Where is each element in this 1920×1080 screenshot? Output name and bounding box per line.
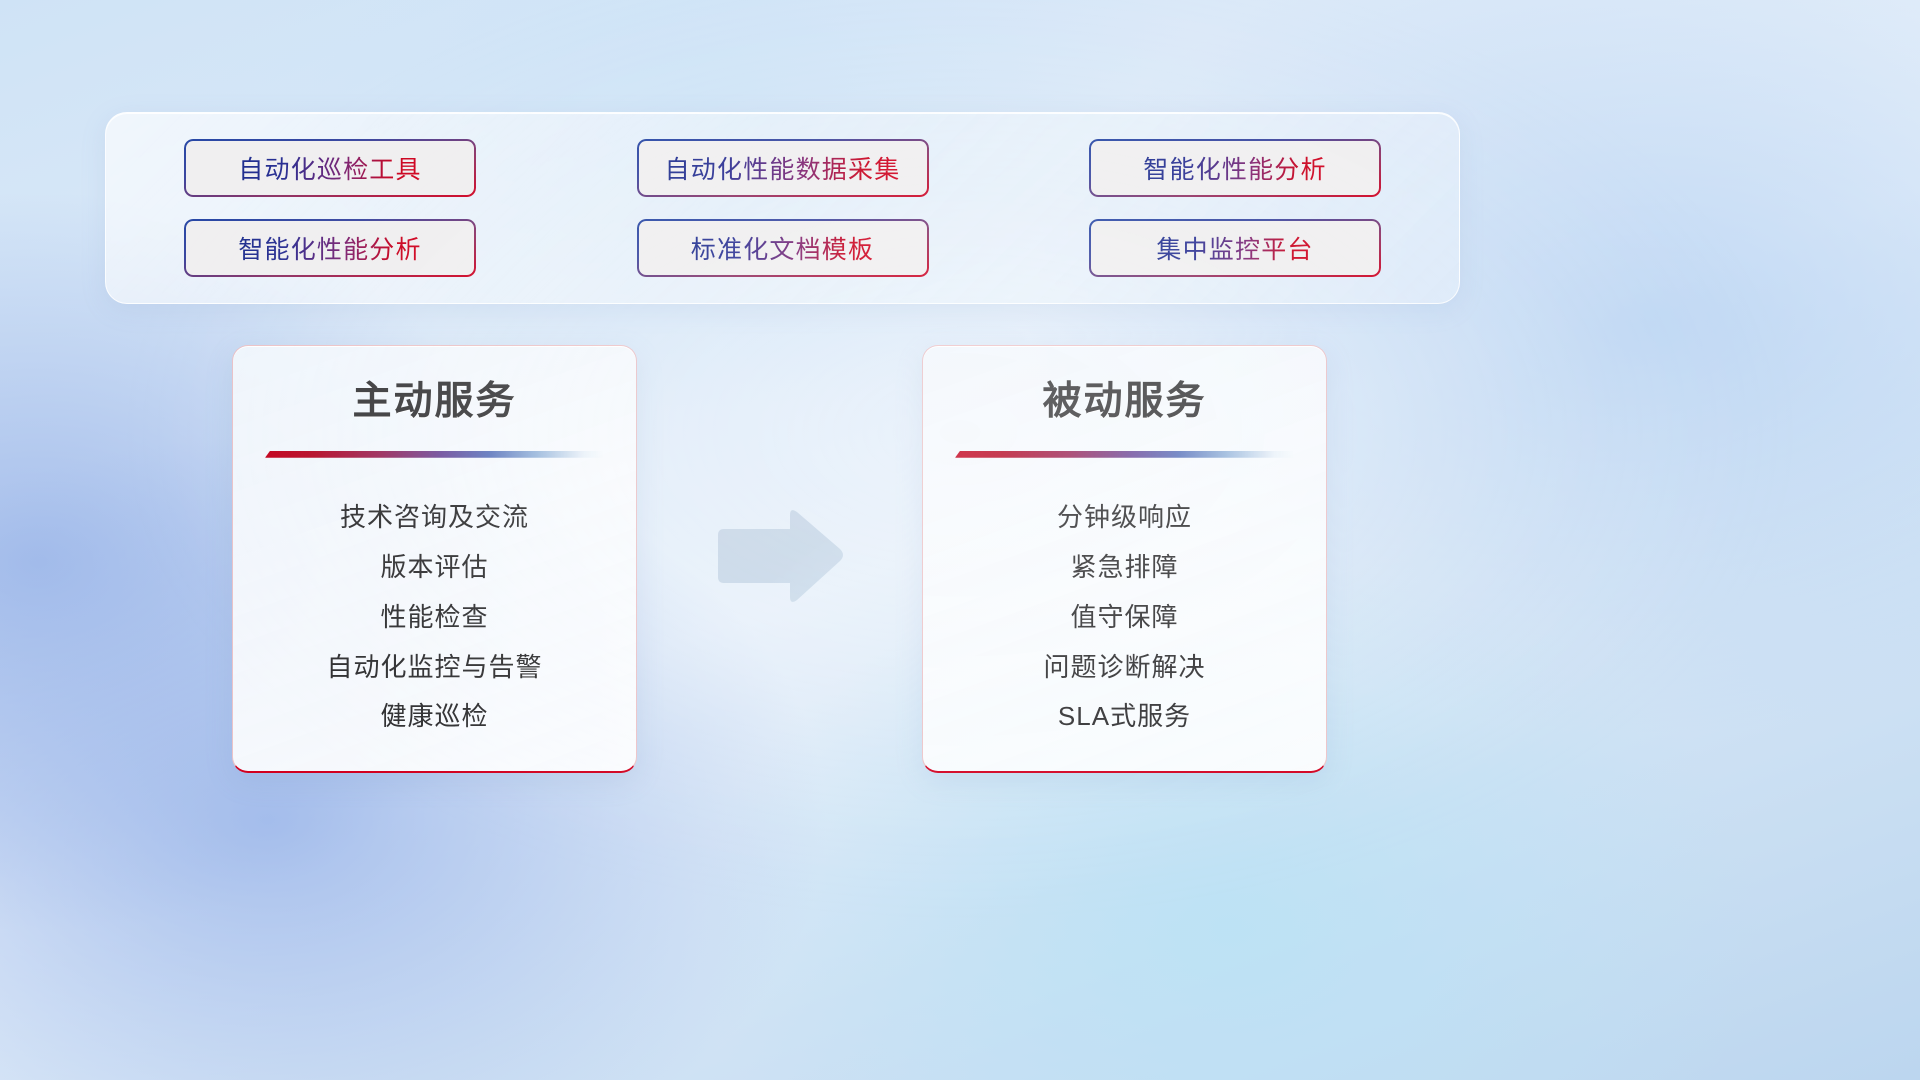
capability-pill[interactable]: 标准化文档模板 (637, 219, 929, 277)
list-item: 性能检查 (263, 602, 606, 633)
capability-pill-label: 自动化巡检工具 (238, 150, 421, 186)
card-item-list: 分钟级响应 紧急排障 值守保障 问题诊断解决 SLA式服务 (953, 484, 1296, 751)
capability-pill-label: 智能化性能分析 (1143, 150, 1326, 186)
card-item-list: 技术咨询及交流 版本评估 性能检查 自动化监控与告警 健康巡检 (263, 484, 606, 751)
arrow-right-icon (712, 505, 848, 609)
capability-pill[interactable]: 自动化性能数据采集 (637, 139, 929, 197)
capability-pill-label: 集中监控平台 (1156, 230, 1313, 266)
capability-pill[interactable]: 集中监控平台 (1089, 219, 1381, 277)
capability-pill-label: 智能化性能分析 (238, 230, 421, 266)
capability-pill[interactable]: 智能化性能分析 (184, 219, 476, 277)
capability-pill-label: 自动化性能数据采集 (665, 150, 901, 186)
capability-pill[interactable]: 自动化巡检工具 (184, 139, 476, 197)
list-item: 问题诊断解决 (953, 652, 1296, 683)
card-title: 主动服务 (263, 378, 606, 427)
card-divider (955, 451, 1294, 458)
list-item: 自动化监控与告警 (263, 652, 606, 683)
list-item: SLA式服务 (953, 701, 1296, 732)
capability-pill-label: 标准化文档模板 (691, 230, 874, 266)
list-item: 紧急排障 (953, 552, 1296, 583)
list-item: 值守保障 (953, 602, 1296, 633)
capabilities-panel: 自动化巡检工具 自动化性能数据采集 智能化性能分析 智能化性能分析 标准化文档模… (105, 112, 1460, 304)
list-item: 分钟级响应 (953, 502, 1296, 533)
slide-canvas: 自动化巡检工具 自动化性能数据采集 智能化性能分析 智能化性能分析 标准化文档模… (0, 0, 1920, 1080)
service-card-proactive: 主动服务 技术咨询及交流 版本评估 性能检查 自动化监控与告警 健康巡检 (232, 345, 637, 773)
list-item: 技术咨询及交流 (263, 502, 606, 533)
capability-pill[interactable]: 智能化性能分析 (1089, 139, 1381, 197)
list-item: 版本评估 (263, 552, 606, 583)
card-title: 被动服务 (953, 378, 1296, 427)
service-card-reactive: 被动服务 分钟级响应 紧急排障 值守保障 问题诊断解决 SLA式服务 (922, 345, 1327, 773)
capabilities-row-1: 自动化巡检工具 自动化性能数据采集 智能化性能分析 (184, 139, 1381, 197)
list-item: 健康巡检 (263, 701, 606, 732)
card-divider (265, 451, 604, 458)
capabilities-row-2: 智能化性能分析 标准化文档模板 集中监控平台 (184, 219, 1381, 277)
